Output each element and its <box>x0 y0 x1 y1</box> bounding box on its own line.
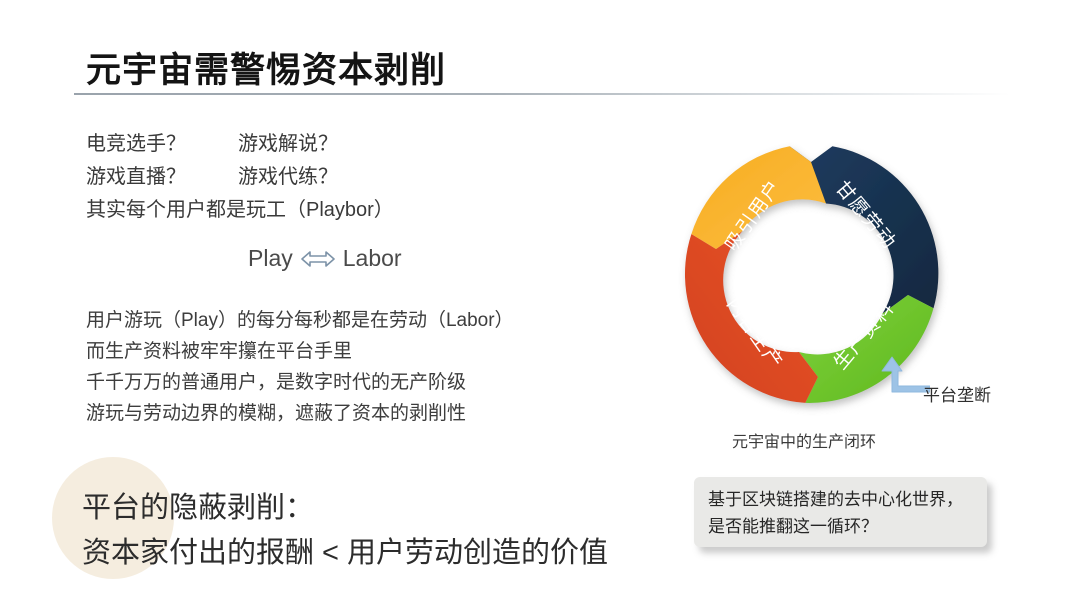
question-row: 游戏直播？游戏代练？ <box>86 161 394 194</box>
equation-right-term: Labor <box>343 245 402 272</box>
callout-text: 基于区块链搭建的去中心化世界， 是否能推翻这一循环？ <box>708 486 963 540</box>
highlight-line: 资本家付出的报酬 < 用户劳动创造的价值 <box>82 531 608 576</box>
question-left: 电竞选手？ <box>86 128 238 161</box>
play-labor-equation: Play Labor <box>248 245 402 272</box>
paragraph-line: 游玩与劳动边界的模糊，遮蔽了资本的剥削性 <box>86 398 514 429</box>
question-block: 电竞选手？游戏解说？ 游戏直播？游戏代练？ 其实每个用户都是玩工（Playbor… <box>86 128 394 227</box>
chart-caption: 元宇宙中的生产闭环 <box>732 428 876 452</box>
slide-canvas: 元宇宙需警惕资本剥削 电竞选手？游戏解说？ 游戏直播？游戏代练？ 其实每个用户都… <box>0 0 1080 607</box>
question-conclusion: 其实每个用户都是玩工（Playbor） <box>86 194 394 227</box>
question-left: 游戏直播？ <box>86 161 238 194</box>
highlight-line: 平台的隐蔽剥削： <box>82 486 608 531</box>
paragraph-line: 而生产资料被牢牢攥在平台手里 <box>86 336 514 367</box>
paragraph-line: 用户游玩（Play）的每分每秒都是在劳动（Labor） <box>86 305 514 336</box>
page-title: 元宇宙需警惕资本剥削 <box>86 42 446 93</box>
double-arrow-icon <box>301 249 335 269</box>
callout-line: 是否能推翻这一循环？ <box>708 513 963 540</box>
title-divider <box>74 93 1010 95</box>
body-paragraph: 用户游玩（Play）的每分每秒都是在劳动（Labor） 而生产资料被牢牢攥在平台… <box>86 305 514 429</box>
equation-left-term: Play <box>248 245 293 272</box>
question-right: 游戏解说？ <box>238 133 338 155</box>
elbow-arrow-up-icon <box>868 355 930 405</box>
callout-box: 基于区块链搭建的去中心化世界， 是否能推翻这一循环？ <box>694 477 987 547</box>
annotation-label: 平台垄断 <box>923 381 991 406</box>
highlight-statement: 平台的隐蔽剥削： 资本家付出的报酬 < 用户劳动创造的价值 <box>82 486 608 576</box>
question-right: 游戏代练？ <box>238 166 338 188</box>
callout-line: 基于区块链搭建的去中心化世界， <box>708 486 963 513</box>
question-row: 电竞选手？游戏解说？ <box>86 128 394 161</box>
paragraph-line: 千千万万的普通用户，是数字时代的无产阶级 <box>86 367 514 398</box>
